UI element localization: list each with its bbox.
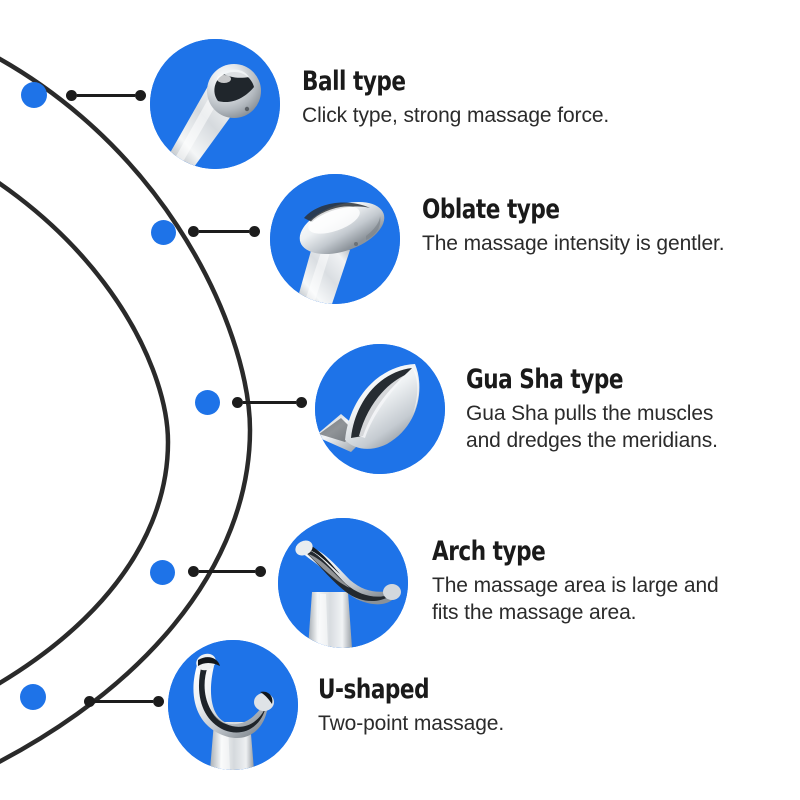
arc-node-oblate [151,220,176,245]
infographic-page: Ball type Click type, strong massage for… [0,0,800,800]
feature-desc-oblate: The massage intensity is gentler. [422,231,725,258]
connector-end-dot [255,566,266,577]
connector-start-dot [66,90,77,101]
connector-bar [77,94,135,97]
connector-start-dot [84,696,95,707]
connector-end-dot [153,696,164,707]
feature-title-gua-sha: Gua Sha type [466,366,668,394]
arc-node-u-shaped [20,684,46,710]
feature-text-arch: Arch type The massage area is large and … [432,538,719,627]
connector-line-oblate [188,226,260,237]
connector-bar [243,401,296,404]
connector-bar [199,230,249,233]
feature-photo-u-shaped [168,640,298,770]
feature-desc-arch: The massage area is large and fits the m… [432,573,719,627]
feature-text-gua-sha: Gua Sha type Gua Sha pulls the muscles a… [466,366,718,455]
feature-text-ball: Ball type Click type, strong massage for… [302,68,609,130]
feature-photo-gua-sha [315,344,445,474]
feature-text-u-shaped: U-shaped Two-point massage. [318,676,504,738]
connector-end-dot [135,90,146,101]
inner-arc [0,125,168,736]
feature-photo-arch [278,518,408,648]
feature-title-oblate: Oblate type [422,196,664,224]
connector-start-dot [232,397,243,408]
feature-title-u-shaped: U-shaped [318,676,467,704]
connector-end-dot [296,397,307,408]
feature-photo-ball [150,39,280,169]
connector-end-dot [249,226,260,237]
feature-desc-gua-sha: Gua Sha pulls the muscles and dredges th… [466,401,718,455]
feature-text-oblate: Oblate type The massage intensity is gen… [422,196,725,258]
arc-node-gua-sha [195,390,220,415]
connector-bar [199,570,255,573]
feature-photo-oblate [270,174,400,304]
feature-desc-u-shaped: Two-point massage. [318,711,504,738]
feature-desc-ball: Click type, strong massage force. [302,103,609,130]
arc-node-arch [150,560,175,585]
connector-bar [95,700,153,703]
connector-line-arch [188,566,266,577]
feature-title-arch: Arch type [432,538,661,566]
arc-node-ball [21,82,47,108]
connector-start-dot [188,566,199,577]
connector-line-gua-sha [232,397,307,408]
connector-line-ball [66,90,146,101]
connector-start-dot [188,226,199,237]
connector-line-u-shaped [84,696,164,707]
feature-title-ball: Ball type [302,68,548,96]
